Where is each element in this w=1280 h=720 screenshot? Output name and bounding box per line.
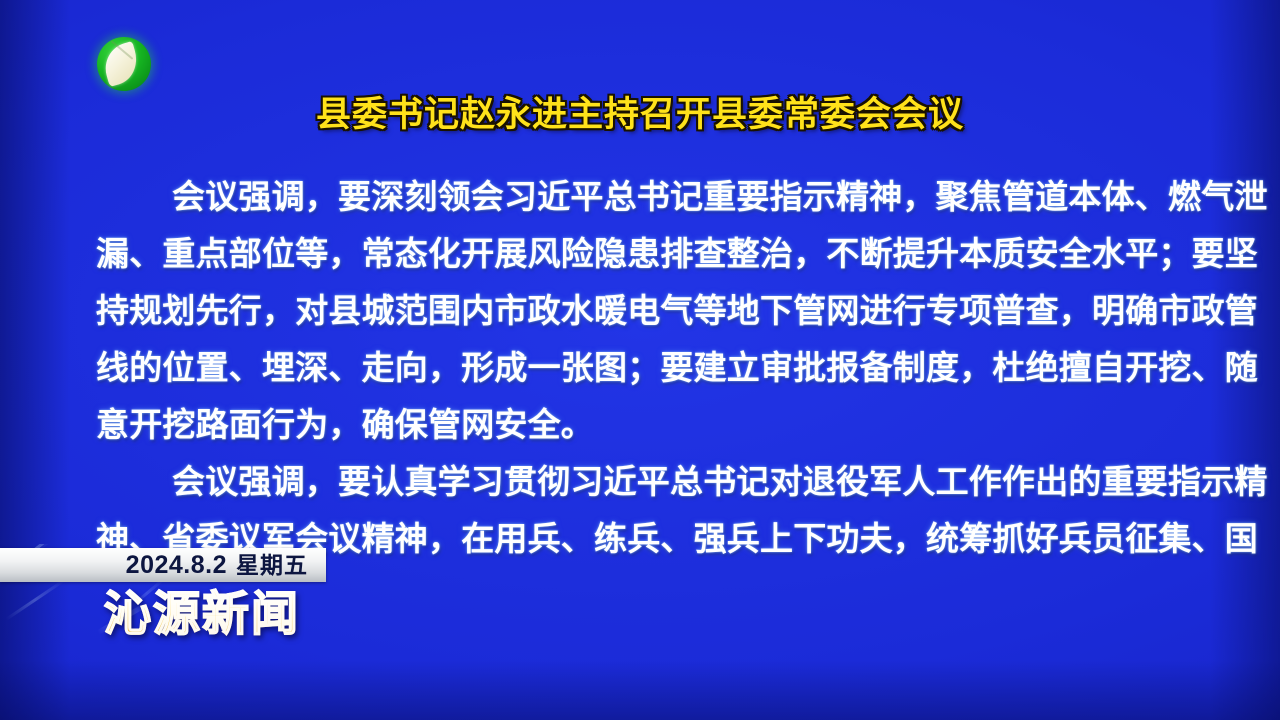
body-line: 意开挖路面行为，确保管网安全。 bbox=[96, 396, 1192, 453]
body-line: 持规划先行，对县城范围内市政水暖电气等地下管网进行专项普查，明确市政管 bbox=[96, 282, 1192, 339]
date-bar: 2024.8.2 星期五 bbox=[0, 548, 326, 582]
news-headline: 县委书记赵永进主持召开县委常委会会议 bbox=[0, 86, 1280, 137]
news-body-copy: 会议强调，要深刻领会习近平总书记重要指示精神，聚焦管道本体、燃气泄 漏、重点部位… bbox=[96, 168, 1192, 567]
broadcast-date: 2024.8.2 bbox=[126, 553, 227, 578]
tv-broadcast-frame: 县委书记赵永进主持召开县委常委会会议 会议强调，要深刻领会习近平总书记重要指示精… bbox=[0, 0, 1280, 720]
body-line: 线的位置、埋深、走向，形成一张图；要建立审批报备制度，杜绝擅自开挖、随 bbox=[96, 339, 1192, 396]
body-line: 漏、重点部位等，常态化开展风险隐患排查整治，不断提升本质安全水平；要坚 bbox=[96, 225, 1192, 282]
lower-third-banner: 2024.8.2 星期五 沁源新闻 bbox=[0, 548, 420, 660]
program-title: 沁源新闻 bbox=[104, 586, 300, 641]
light-streak bbox=[5, 579, 65, 621]
channel-logo-icon bbox=[97, 37, 151, 91]
broadcast-weekday: 星期五 bbox=[236, 554, 308, 577]
body-line: 会议强调，要深刻领会习近平总书记重要指示精神，聚焦管道本体、燃气泄 bbox=[96, 168, 1192, 225]
body-line: 会议强调，要认真学习贯彻习近平总书记对退役军人工作作出的重要指示精 bbox=[96, 453, 1192, 510]
